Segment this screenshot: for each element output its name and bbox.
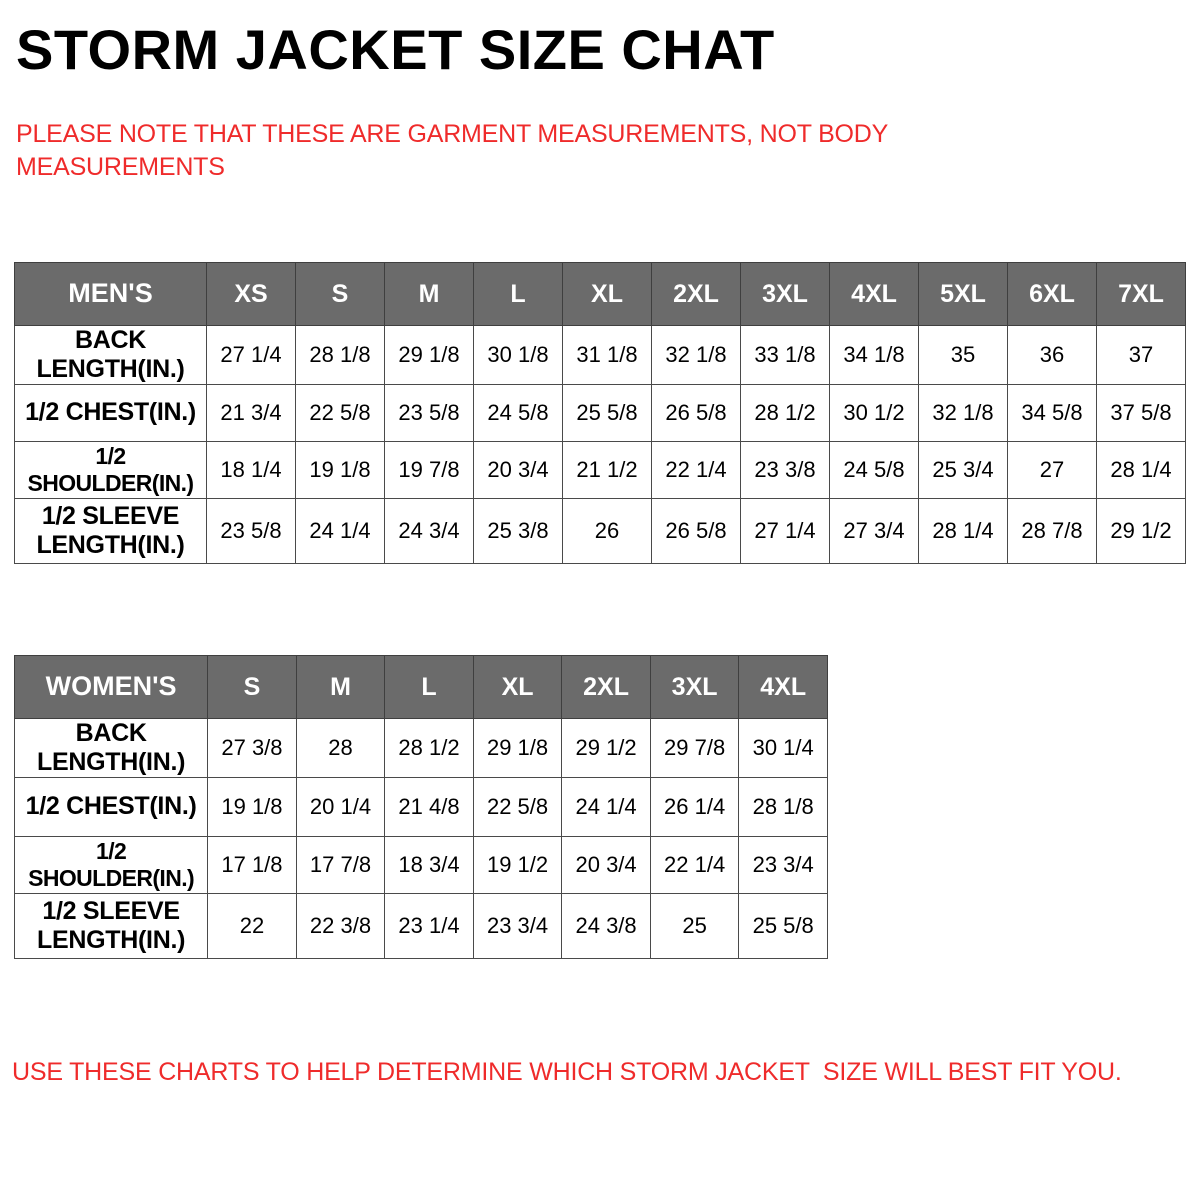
womens-half-sleeve-3xl: 25 xyxy=(650,893,739,958)
womens-half-shoulder-4xl: 23 3/4 xyxy=(739,836,828,893)
womens-back-length-xl: 29 1/8 xyxy=(473,719,562,778)
mens-half-shoulder-6xl: 27 xyxy=(1008,441,1097,498)
womens-half-sleeve-2xl: 24 3/8 xyxy=(562,893,651,958)
mens-back-length-xs: 27 1/4 xyxy=(207,326,296,385)
mens-half-chest-5xl: 32 1/8 xyxy=(919,384,1008,441)
womens-table-body: BACK LENGTH(IN.) 27 3/8 28 28 1/2 29 1/8… xyxy=(15,719,828,959)
mens-back-length-5xl: 35 xyxy=(919,326,1008,385)
mens-col-7xl: 7XL xyxy=(1097,263,1186,326)
mens-half-sleeve-4xl: 27 3/4 xyxy=(830,498,919,563)
mens-half-chest-xs: 21 3/4 xyxy=(207,384,296,441)
mens-half-chest-6xl: 34 5/8 xyxy=(1008,384,1097,441)
mens-half-shoulder-xl: 21 1/2 xyxy=(563,441,652,498)
womens-col-l: L xyxy=(385,656,474,719)
mens-half-chest-m: 23 5/8 xyxy=(385,384,474,441)
womens-back-length-3xl: 29 7/8 xyxy=(650,719,739,778)
mens-half-sleeve-7xl: 29 1/2 xyxy=(1097,498,1186,563)
mens-half-shoulder-7xl: 28 1/4 xyxy=(1097,441,1186,498)
womens-half-chest-m: 20 1/4 xyxy=(296,777,385,836)
mens-half-shoulder-m: 19 7/8 xyxy=(385,441,474,498)
mens-row-label-half-shoulder: 1/2 SHOULDER(IN.) xyxy=(15,441,207,498)
mens-half-shoulder-4xl: 24 5/8 xyxy=(830,441,919,498)
womens-col-4xl: 4XL xyxy=(739,656,828,719)
table-row: BACK LENGTH(IN.) 27 1/4 28 1/8 29 1/8 30… xyxy=(15,326,1186,385)
mens-half-shoulder-2xl: 22 1/4 xyxy=(652,441,741,498)
womens-col-2xl: 2XL xyxy=(562,656,651,719)
mens-half-shoulder-3xl: 23 3/8 xyxy=(741,441,830,498)
womens-half-shoulder-m: 17 7/8 xyxy=(296,836,385,893)
womens-half-chest-s: 19 1/8 xyxy=(208,777,297,836)
womens-back-length-m: 28 xyxy=(296,719,385,778)
table-header-row: MEN'S XS S M L XL 2XL 3XL 4XL 5XL 6XL 7X… xyxy=(15,263,1186,326)
mens-half-shoulder-s: 19 1/8 xyxy=(296,441,385,498)
page-title: STORM JACKET SIZE CHAT xyxy=(16,22,775,78)
table-row: 1/2 SLEEVE LENGTH(IN.) 22 22 3/8 23 1/4 … xyxy=(15,893,828,958)
mens-col-2xl: 2XL xyxy=(652,263,741,326)
table-row: 1/2 CHEST(IN.) 21 3/4 22 5/8 23 5/8 24 5… xyxy=(15,384,1186,441)
table-row: 1/2 SLEEVE LENGTH(IN.) 23 5/8 24 1/4 24 … xyxy=(15,498,1186,563)
mens-col-5xl: 5XL xyxy=(919,263,1008,326)
mens-half-sleeve-m: 24 3/4 xyxy=(385,498,474,563)
womens-corner-label: WOMEN'S xyxy=(15,656,208,719)
mens-back-length-l: 30 1/8 xyxy=(474,326,563,385)
womens-half-chest-l: 21 4/8 xyxy=(385,777,474,836)
mens-col-xl: XL xyxy=(563,263,652,326)
mens-row-label-back-length: BACK LENGTH(IN.) xyxy=(15,326,207,385)
womens-half-chest-3xl: 26 1/4 xyxy=(650,777,739,836)
womens-half-chest-2xl: 24 1/4 xyxy=(562,777,651,836)
mens-row-label-half-sleeve-length: 1/2 SLEEVE LENGTH(IN.) xyxy=(15,498,207,563)
mens-half-sleeve-3xl: 27 1/4 xyxy=(741,498,830,563)
womens-back-length-s: 27 3/8 xyxy=(208,719,297,778)
mens-half-chest-7xl: 37 5/8 xyxy=(1097,384,1186,441)
mens-half-sleeve-s: 24 1/4 xyxy=(296,498,385,563)
table-row: BACK LENGTH(IN.) 27 3/8 28 28 1/2 29 1/8… xyxy=(15,719,828,778)
womens-col-3xl: 3XL xyxy=(650,656,739,719)
mens-half-sleeve-5xl: 28 1/4 xyxy=(919,498,1008,563)
mens-back-length-2xl: 32 1/8 xyxy=(652,326,741,385)
mens-half-chest-s: 22 5/8 xyxy=(296,384,385,441)
mens-back-length-7xl: 37 xyxy=(1097,326,1186,385)
womens-back-length-2xl: 29 1/2 xyxy=(562,719,651,778)
mens-corner-label: MEN'S xyxy=(15,263,207,326)
womens-half-chest-xl: 22 5/8 xyxy=(473,777,562,836)
mens-col-m: M xyxy=(385,263,474,326)
womens-half-chest-4xl: 28 1/8 xyxy=(739,777,828,836)
womens-back-length-l: 28 1/2 xyxy=(385,719,474,778)
mens-half-chest-xl: 25 5/8 xyxy=(563,384,652,441)
womens-row-label-half-chest: 1/2 CHEST(IN.) xyxy=(15,777,208,836)
mens-half-chest-4xl: 30 1/2 xyxy=(830,384,919,441)
womens-half-sleeve-xl: 23 3/4 xyxy=(473,893,562,958)
mens-half-shoulder-xs: 18 1/4 xyxy=(207,441,296,498)
mens-back-length-m: 29 1/8 xyxy=(385,326,474,385)
table-row: 1/2 CHEST(IN.) 19 1/8 20 1/4 21 4/8 22 5… xyxy=(15,777,828,836)
womens-size-table: WOMEN'S S M L XL 2XL 3XL 4XL BACK LENGTH… xyxy=(14,655,828,959)
womens-back-length-4xl: 30 1/4 xyxy=(739,719,828,778)
mens-back-length-s: 28 1/8 xyxy=(296,326,385,385)
mens-half-shoulder-l: 20 3/4 xyxy=(474,441,563,498)
womens-half-sleeve-s: 22 xyxy=(208,893,297,958)
womens-half-shoulder-3xl: 22 1/4 xyxy=(650,836,739,893)
size-guidance-note: USE THESE CHARTS TO HELP DETERMINE WHICH… xyxy=(12,1058,1172,1087)
womens-col-s: S xyxy=(208,656,297,719)
mens-size-table: MEN'S XS S M L XL 2XL 3XL 4XL 5XL 6XL 7X… xyxy=(14,262,1186,564)
womens-half-sleeve-4xl: 25 5/8 xyxy=(739,893,828,958)
mens-table-body: BACK LENGTH(IN.) 27 1/4 28 1/8 29 1/8 30… xyxy=(15,326,1186,564)
mens-back-length-4xl: 34 1/8 xyxy=(830,326,919,385)
womens-half-sleeve-l: 23 1/4 xyxy=(385,893,474,958)
mens-half-shoulder-5xl: 25 3/4 xyxy=(919,441,1008,498)
womens-row-label-back-length: BACK LENGTH(IN.) xyxy=(15,719,208,778)
mens-half-chest-2xl: 26 5/8 xyxy=(652,384,741,441)
mens-col-6xl: 6XL xyxy=(1008,263,1097,326)
womens-row-label-half-sleeve-length: 1/2 SLEEVE LENGTH(IN.) xyxy=(15,893,208,958)
mens-col-4xl: 4XL xyxy=(830,263,919,326)
mens-back-length-6xl: 36 xyxy=(1008,326,1097,385)
mens-back-length-xl: 31 1/8 xyxy=(563,326,652,385)
womens-half-shoulder-s: 17 1/8 xyxy=(208,836,297,893)
table-row: 1/2 SHOULDER(IN.) 18 1/4 19 1/8 19 7/8 2… xyxy=(15,441,1186,498)
mens-half-sleeve-2xl: 26 5/8 xyxy=(652,498,741,563)
mens-half-chest-3xl: 28 1/2 xyxy=(741,384,830,441)
mens-table-header: MEN'S XS S M L XL 2XL 3XL 4XL 5XL 6XL 7X… xyxy=(15,263,1186,326)
mens-half-sleeve-xl: 26 xyxy=(563,498,652,563)
womens-col-xl: XL xyxy=(473,656,562,719)
mens-back-length-3xl: 33 1/8 xyxy=(741,326,830,385)
table-row: 1/2 SHOULDER(IN.) 17 1/8 17 7/8 18 3/4 1… xyxy=(15,836,828,893)
womens-col-m: M xyxy=(296,656,385,719)
mens-half-sleeve-l: 25 3/8 xyxy=(474,498,563,563)
mens-col-l: L xyxy=(474,263,563,326)
garment-measurement-note: PLEASE NOTE THAT THESE ARE GARMENT MEASU… xyxy=(16,118,1016,184)
womens-half-sleeve-m: 22 3/8 xyxy=(296,893,385,958)
mens-half-chest-l: 24 5/8 xyxy=(474,384,563,441)
mens-col-3xl: 3XL xyxy=(741,263,830,326)
table-header-row: WOMEN'S S M L XL 2XL 3XL 4XL xyxy=(15,656,828,719)
womens-half-shoulder-2xl: 20 3/4 xyxy=(562,836,651,893)
womens-half-shoulder-xl: 19 1/2 xyxy=(473,836,562,893)
mens-half-sleeve-6xl: 28 7/8 xyxy=(1008,498,1097,563)
mens-col-xs: XS xyxy=(207,263,296,326)
womens-row-label-half-shoulder: 1/2 SHOULDER(IN.) xyxy=(15,836,208,893)
mens-half-sleeve-xs: 23 5/8 xyxy=(207,498,296,563)
mens-col-s: S xyxy=(296,263,385,326)
size-chart-page: STORM JACKET SIZE CHAT PLEASE NOTE THAT … xyxy=(0,0,1200,1200)
mens-row-label-half-chest: 1/2 CHEST(IN.) xyxy=(15,384,207,441)
womens-table-header: WOMEN'S S M L XL 2XL 3XL 4XL xyxy=(15,656,828,719)
womens-half-shoulder-l: 18 3/4 xyxy=(385,836,474,893)
